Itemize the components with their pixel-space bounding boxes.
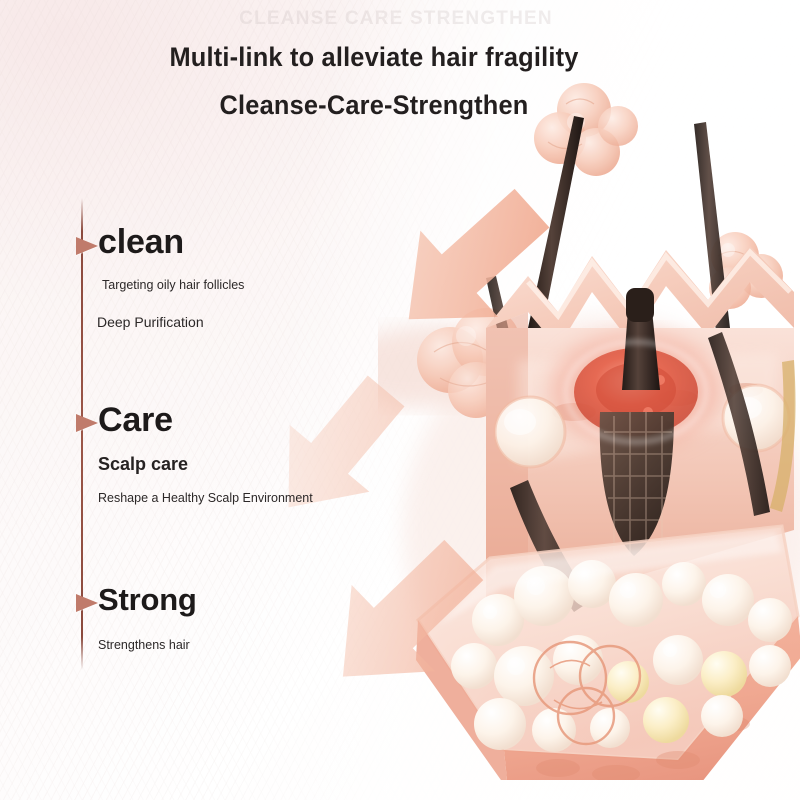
poster-canvas: CLEANSE CARE STRENGTHEN Multi-link to al…: [0, 0, 800, 800]
step-subtitle-care: Scalp care: [98, 455, 188, 473]
step-title-clean: clean: [98, 225, 184, 259]
headline-block: Multi-link to alleviate hair fragility C…: [0, 44, 748, 119]
background-watermark-text: CLEANSE CARE STRENGTHEN: [186, 6, 606, 32]
headline-line-2: Cleanse-Care-Strengthen: [22, 92, 725, 119]
step-note-clean-secondary: Deep Purification: [97, 315, 204, 329]
step-note-clean-primary: Targeting oily hair follicles: [102, 279, 244, 292]
step-marker-triangle-icon: [76, 237, 98, 255]
step-note-strong-primary: Strengthens hair: [98, 639, 190, 652]
step-note-care-primary: Reshape a Healthy Scalp Environment: [98, 492, 313, 505]
headline-line-1: Multi-link to alleviate hair fragility: [22, 44, 725, 71]
step-title-strong: Strong: [98, 584, 197, 615]
step-marker-triangle-icon: [76, 414, 98, 432]
step-marker-triangle-icon: [76, 594, 98, 612]
step-title-care: Care: [98, 403, 173, 437]
3d-scalp-illustration: [378, 60, 800, 780]
